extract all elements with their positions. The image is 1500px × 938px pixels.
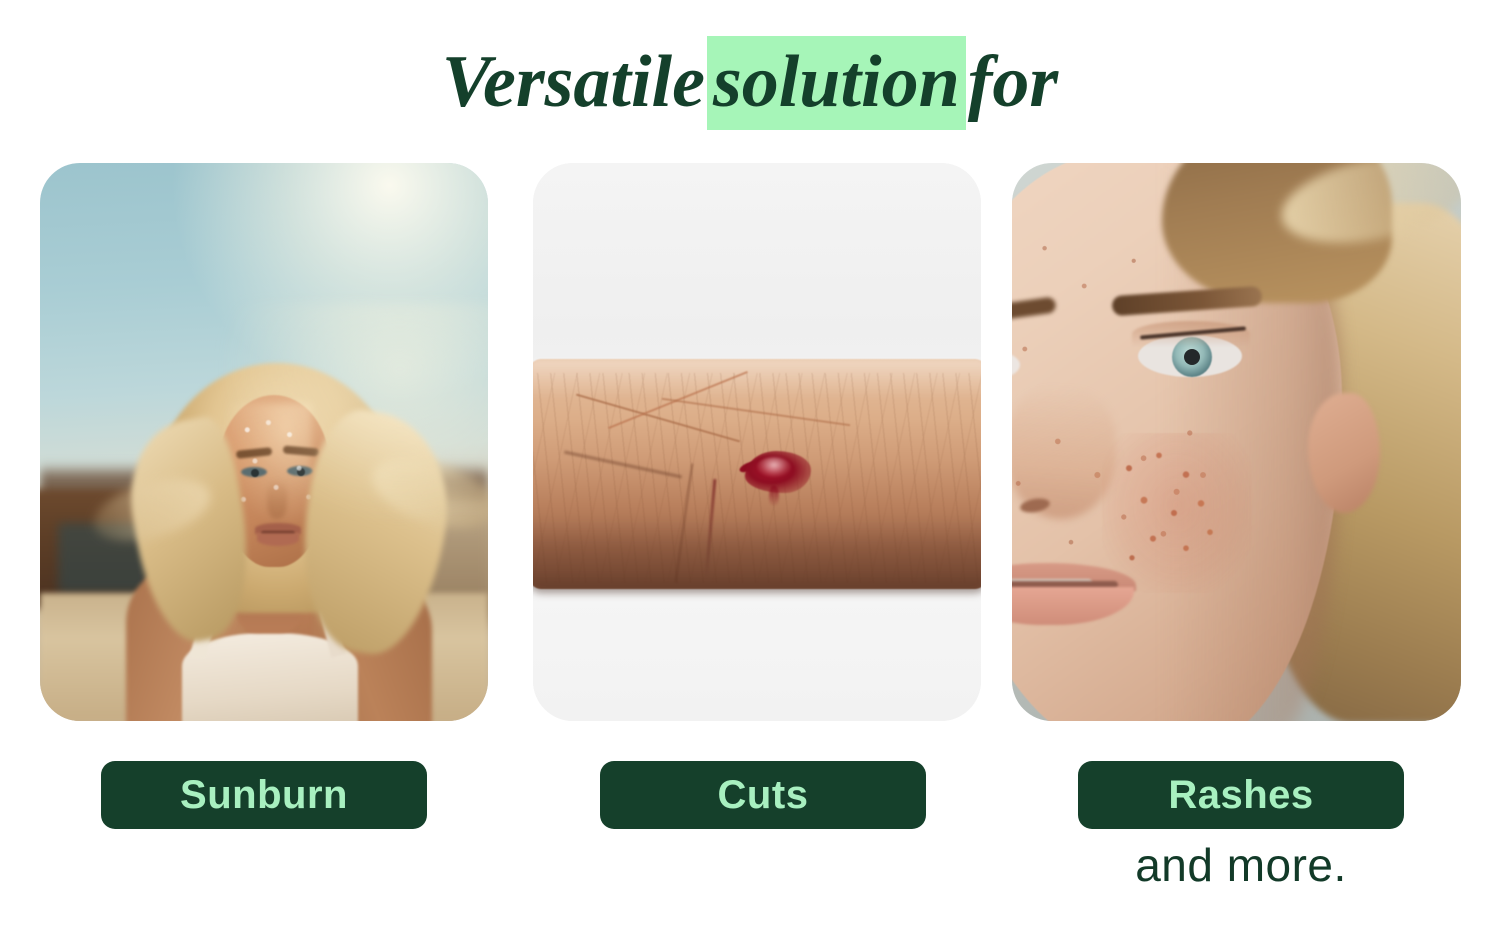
label-text-rashes: Rashes <box>1168 773 1313 818</box>
condition-card-rashes[interactable] <box>1012 163 1461 721</box>
wound-highlight <box>757 457 791 477</box>
and-more-text: and more. <box>1078 838 1404 892</box>
blood-trail <box>769 485 779 507</box>
ear <box>1308 393 1380 513</box>
label-pill-cuts[interactable]: Cuts <box>600 761 926 829</box>
label-text-sunburn: Sunburn <box>180 773 348 818</box>
versatile-solution-infographic: { "headline": { "before": "Versatile ", … <box>0 0 1500 938</box>
title-part-after: for <box>962 36 1064 130</box>
label-text-cuts: Cuts <box>718 773 809 818</box>
cheek-rash <box>1102 433 1252 593</box>
cut-photo <box>533 163 981 721</box>
lower-lip <box>257 533 299 546</box>
forearm-shadow <box>533 519 981 593</box>
rash-photo <box>1012 163 1461 721</box>
condition-card-row <box>40 163 1461 721</box>
sunburn-photo <box>40 163 488 721</box>
label-pill-rashes[interactable]: Rashes <box>1078 761 1404 829</box>
label-pill-sunburn[interactable]: Sunburn <box>101 761 427 829</box>
title-part-before: Versatile <box>436 36 711 130</box>
page-title: Versatile solution for <box>0 36 1500 130</box>
sun-glare <box>220 303 488 523</box>
title-highlight-solution: solution <box>707 36 966 130</box>
condition-card-cuts[interactable] <box>533 163 981 721</box>
condition-card-sunburn[interactable] <box>40 163 488 721</box>
